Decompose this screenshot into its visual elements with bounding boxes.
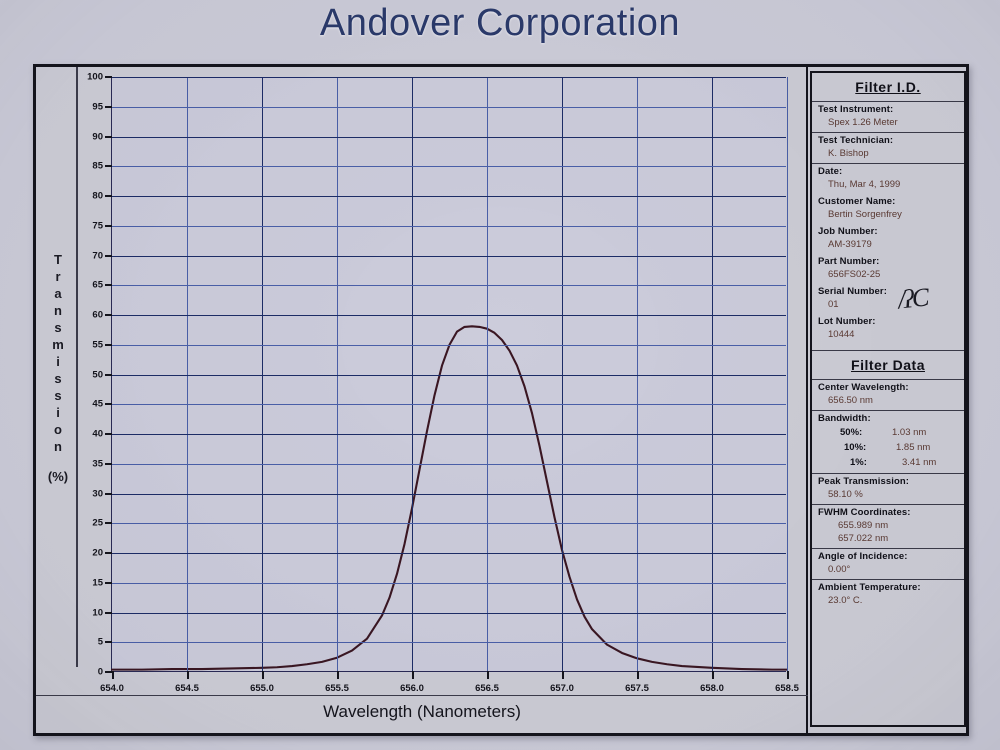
field-value: 656FS02-25 (818, 268, 964, 281)
info-panel-box: Filter I.D. Test Instrument: Spex 1.26 M… (810, 71, 966, 727)
field-part-number: Part Number: 656FS02-25 (812, 254, 964, 284)
x-tick-mark (637, 671, 639, 679)
field-center-wavelength: Center Wavelength: 656.50 nm (812, 379, 964, 410)
bandwidth-value: 1.85 nm (880, 440, 930, 455)
field-value: 10444 (818, 328, 964, 341)
filter-id-section-title: Filter I.D. (812, 73, 964, 101)
x-tick-label: 656.5 (475, 683, 499, 694)
y-tick-label: 100 (87, 72, 112, 83)
y-tick-label: 75 (92, 220, 112, 231)
bandwidth-value: 1.03 nm (876, 425, 926, 440)
transmission-curve (112, 77, 787, 672)
field-value: 657.022 nm (818, 532, 964, 545)
y-tick-label: 70 (92, 250, 112, 261)
y-axis-label-char: n (54, 302, 62, 319)
field-value: 58.10 % (818, 488, 964, 501)
field-label: Test Technician: (818, 135, 964, 147)
field-angle-of-incidence: Angle of Incidence: 0.00° (812, 548, 964, 579)
field-label: Bandwidth: (818, 413, 964, 425)
field-ambient-temperature: Ambient Temperature: 23.0° C. (812, 579, 964, 610)
x-tick-mark (412, 671, 414, 679)
y-tick-label: 55 (92, 339, 112, 350)
bandwidth-level: 1%: (850, 455, 886, 470)
field-date: Date: Thu, Mar 4, 1999 (812, 163, 964, 194)
field-peak-transmission: Peak Transmission: 58.10 % (812, 473, 964, 504)
y-axis-label-char: T (54, 251, 62, 268)
x-tick-mark (112, 671, 114, 679)
y-tick-label: 10 (92, 607, 112, 618)
report-sheet: T r a n s m i s s i o n (%) 654.0654.565… (33, 64, 969, 736)
plot-area: 654.0654.5655.0655.5656.0656.5657.0657.5… (111, 77, 786, 672)
y-tick-label: 90 (92, 131, 112, 142)
y-tick-label: 60 (92, 310, 112, 321)
y-tick-label: 95 (92, 101, 112, 112)
y-tick-label: 45 (92, 399, 112, 410)
x-tick-label: 657.5 (625, 683, 649, 694)
x-tick-mark (262, 671, 264, 679)
x-tick-label: 654.5 (175, 683, 199, 694)
y-tick-label: 50 (92, 369, 112, 380)
y-tick-label: 35 (92, 458, 112, 469)
field-value: 0.00° (818, 563, 964, 576)
field-bandwidth: Bandwidth: 50%: 1.03 nm 10%: 1.85 nm 1%:… (812, 410, 964, 473)
x-tick-label: 658.0 (700, 683, 724, 694)
y-axis-label-char: a (54, 285, 61, 302)
field-value: Thu, Mar 4, 1999 (818, 178, 964, 191)
y-axis-label-char: m (52, 336, 64, 353)
y-axis-label-char: s (54, 319, 61, 336)
y-axis-units: (%) (48, 469, 68, 484)
field-label: Serial Number: (818, 286, 964, 298)
bandwidth-row-50: 50%: 1.03 nm (818, 425, 964, 440)
field-value: 01 (818, 298, 964, 311)
field-label: Lot Number: (818, 316, 964, 328)
x-tick-label: 654.0 (100, 683, 124, 694)
x-tick-label: 655.5 (325, 683, 349, 694)
y-tick-label: 40 (92, 429, 112, 440)
x-tick-mark (487, 671, 489, 679)
field-label: FWHM Coordinates: (818, 507, 964, 519)
page-title: Andover Corporation (0, 2, 1000, 45)
y-tick-label: 30 (92, 488, 112, 499)
field-job-number: Job Number: AM-39179 (812, 224, 964, 254)
x-tick-label: 658.5 (775, 683, 799, 694)
y-tick-label: 5 (98, 637, 112, 648)
y-axis-label-char: n (54, 438, 62, 455)
y-tick-label: 0 (98, 667, 112, 678)
field-value: Spex 1.26 Meter (818, 116, 964, 129)
field-label: Test Instrument: (818, 104, 964, 116)
y-axis-label-char: r (55, 268, 60, 285)
field-customer-name: Customer Name: Bertin Sorgenfrey (812, 194, 964, 224)
y-axis-label-char: o (54, 421, 62, 438)
field-lot-number: Lot Number: 10444 (812, 314, 964, 344)
info-panel: Filter I.D. Test Instrument: Spex 1.26 M… (810, 67, 966, 733)
y-tick-label: 15 (92, 577, 112, 588)
y-tick-label: 25 (92, 518, 112, 529)
y-axis-label-char: s (54, 370, 61, 387)
field-value: Bertin Sorgenfrey (818, 208, 964, 221)
field-label: Peak Transmission: (818, 476, 964, 488)
field-label: Date: (818, 166, 964, 178)
y-axis-label-char: i (56, 404, 60, 421)
x-axis-label: Wavelength (Nanometers) (36, 695, 808, 722)
field-label: Ambient Temperature: (818, 582, 964, 594)
field-label: Job Number: (818, 226, 964, 238)
field-label: Angle of Incidence: (818, 551, 964, 563)
field-label: Customer Name: (818, 196, 964, 208)
y-axis-label-char: i (56, 353, 60, 370)
field-test-technician: Test Technician: K. Bishop /ʔC (812, 132, 964, 163)
y-axis-label-char: s (54, 387, 61, 404)
bandwidth-row-1: 1%: 3.41 nm (818, 455, 964, 470)
x-tick-label: 656.0 (400, 683, 424, 694)
y-tick-label: 80 (92, 191, 112, 202)
filter-data-section-title: Filter Data (812, 350, 964, 379)
x-tick-mark (187, 671, 189, 679)
y-tick-label: 85 (92, 161, 112, 172)
field-value: 655.989 nm (818, 519, 964, 532)
x-tick-mark (787, 671, 789, 679)
bandwidth-value: 3.41 nm (886, 455, 936, 470)
x-tick-mark (712, 671, 714, 679)
y-tick-label: 65 (92, 280, 112, 291)
x-tick-label: 655.0 (250, 683, 274, 694)
y-tick-label: 20 (92, 548, 112, 559)
field-serial-number: Serial Number: 01 (812, 284, 964, 314)
bandwidth-row-10: 10%: 1.85 nm (818, 440, 964, 455)
x-gridline (787, 77, 788, 671)
field-label: Center Wavelength: (818, 382, 964, 394)
x-tick-mark (337, 671, 339, 679)
field-test-instrument: Test Instrument: Spex 1.26 Meter (812, 101, 964, 132)
handwritten-signature: /ʔC (897, 283, 929, 316)
field-value: 656.50 nm (818, 394, 964, 407)
x-tick-label: 657.0 (550, 683, 574, 694)
chart-zone: T r a n s m i s s i o n (%) 654.0654.565… (36, 67, 808, 733)
x-tick-mark (562, 671, 564, 679)
bandwidth-level: 10%: (844, 440, 880, 455)
field-value: 23.0° C. (818, 594, 964, 607)
field-fwhm-coordinates: FWHM Coordinates: 655.989 nm 657.022 nm (812, 504, 964, 548)
field-value: K. Bishop (818, 147, 964, 160)
bandwidth-level: 50%: (840, 425, 876, 440)
y-axis-label: T r a n s m i s s i o n (%) (40, 67, 78, 667)
field-value: AM-39179 (818, 238, 964, 251)
field-label: Part Number: (818, 256, 964, 268)
